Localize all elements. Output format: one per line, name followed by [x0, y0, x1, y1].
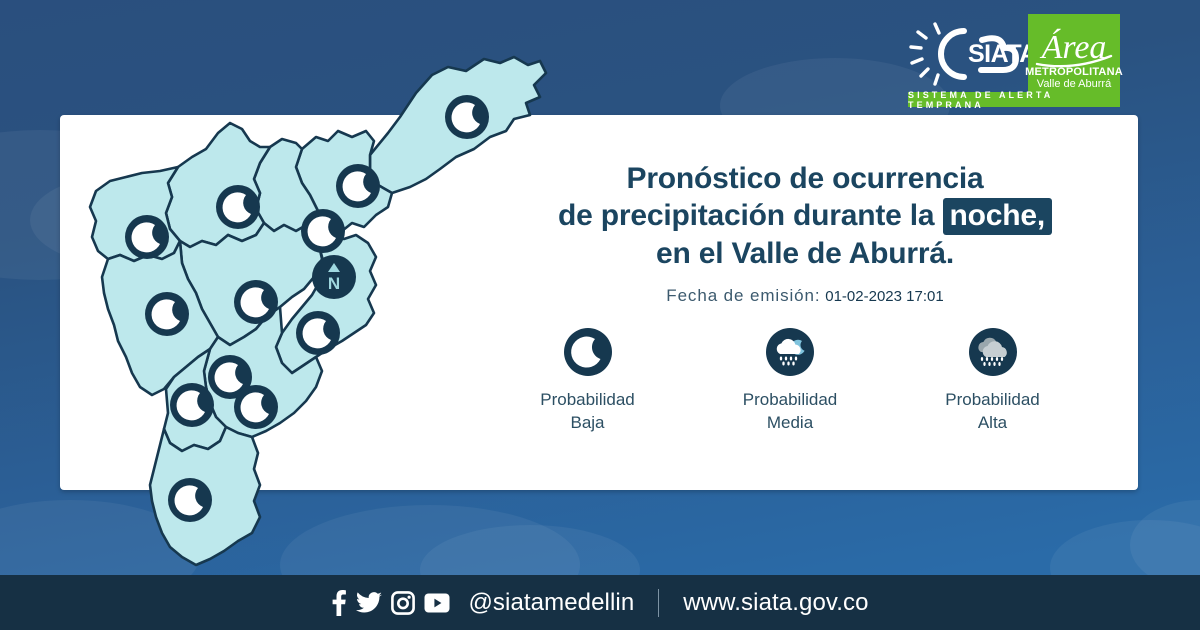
siata-wordmark: SIATA — [968, 40, 1028, 68]
compass-label: N — [328, 274, 340, 293]
area-metropolitana-logo: Área METROPOLITANA Valle de Aburrá — [1028, 14, 1120, 94]
website-url[interactable]: www.siata.gov.co — [683, 589, 868, 617]
map-marker-envigado[interactable] — [296, 311, 340, 355]
area-script-mark: Área — [1028, 18, 1120, 70]
legend-label-high-1: Probabilidad — [905, 388, 1080, 411]
facebook-icon[interactable] — [331, 590, 347, 616]
legend-label-medium-1: Probabilidad — [703, 388, 878, 411]
twitter-icon[interactable] — [356, 592, 382, 614]
footer-bar: @siatamedellin www.siata.gov.co — [0, 575, 1200, 630]
map-marker-la-estrella[interactable] — [234, 385, 278, 429]
title-line-3: en el Valle de Aburrá. — [470, 235, 1140, 272]
footer-divider — [658, 589, 659, 617]
siata-logo-mark: SIATA — [908, 14, 1028, 94]
title-line-1: Pronóstico de ocurrencia — [470, 160, 1140, 197]
legend-label-high-2: Alta — [905, 411, 1080, 434]
valle-de-aburra-map[interactable]: N — [70, 45, 590, 590]
siata-tagline: SISTEMA DE ALERTA TEMPRANA — [908, 92, 1120, 107]
cloud-moon-rain-icon — [766, 328, 814, 376]
instagram-icon[interactable] — [391, 591, 415, 615]
map-marker-copacabana[interactable] — [301, 209, 345, 253]
title-line-2: de precipitación durante la noche, — [470, 197, 1140, 235]
map-marker-girardota[interactable] — [336, 164, 380, 208]
map-region-san-jeronimo — [166, 123, 270, 247]
logo-group: SIATA Área METROPOLITANA Valle de Aburrá — [908, 14, 1120, 94]
moon-icon — [564, 328, 612, 376]
emission-date-label: Fecha de emisión: — [666, 286, 820, 305]
page-title: Pronóstico de ocurrencia de precipitació… — [470, 160, 1140, 272]
map-marker-ebejico[interactable] — [125, 215, 169, 259]
youtube-icon[interactable] — [424, 593, 450, 613]
map-marker-bello[interactable] — [234, 280, 278, 324]
legend-item-high[interactable]: Probabilidad Alta — [905, 328, 1080, 434]
legend-label-low-1: Probabilidad — [500, 388, 675, 411]
legend-item-low[interactable]: Probabilidad Baja — [500, 328, 675, 434]
map-marker-barbosa[interactable] — [445, 95, 489, 139]
probability-legend: Probabilidad Baja Probabilidad Medi — [500, 328, 1080, 434]
title-highlight-noche: noche, — [943, 198, 1052, 235]
social-handle[interactable]: @siatamedellin — [468, 589, 634, 617]
map-marker-medellin[interactable] — [145, 292, 189, 336]
siata-logo: SIATA — [908, 14, 1028, 94]
title-line-2-pre: de precipitación durante la — [558, 199, 943, 232]
map-marker-sabaneta[interactable] — [170, 383, 214, 427]
legend-label-medium-2: Media — [703, 411, 878, 434]
emission-date-value: 01-02-2023 17:01 — [825, 288, 943, 305]
map-marker-san-jeronimo[interactable] — [216, 185, 260, 229]
social-icon-group — [331, 590, 450, 616]
compass-rose-icon: N — [312, 255, 356, 299]
area-metropolitana-line2: Valle de Aburrá — [1037, 78, 1111, 90]
emission-date: Fecha de emisión: 01-02-2023 17:01 — [470, 286, 1140, 306]
cloud-heavy-rain-icon — [969, 328, 1017, 376]
legend-label-low-2: Baja — [500, 411, 675, 434]
map-marker-caldas[interactable] — [168, 478, 212, 522]
legend-item-medium[interactable]: Probabilidad Media — [703, 328, 878, 434]
headline-block: Pronóstico de ocurrencia de precipitació… — [470, 160, 1140, 306]
